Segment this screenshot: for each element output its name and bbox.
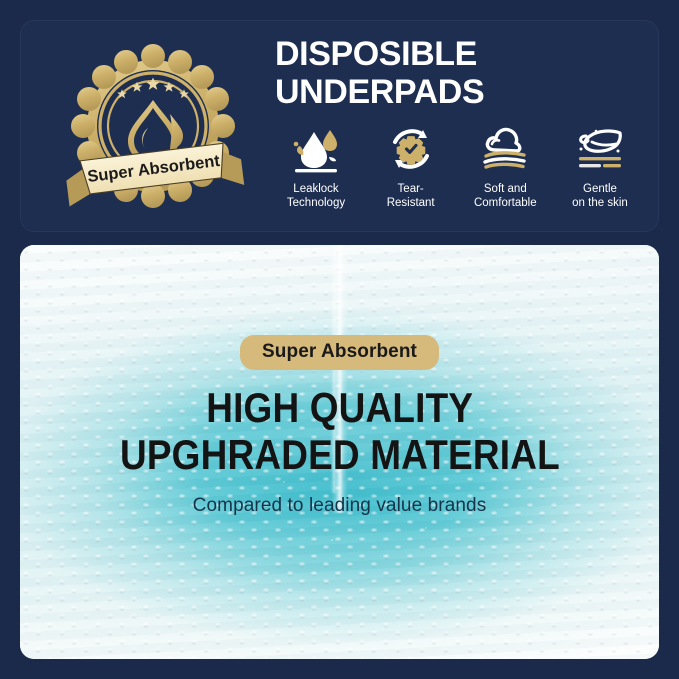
product-header-panel: Super Absorbent DISPOSIBLE UNDERPADS Lea… (20, 20, 659, 232)
gear-check-arrows-icon (383, 124, 439, 174)
feature-gentle-on-the-skin-label: Gentle on the skin (572, 182, 628, 211)
product-title-line2: UNDERPADS (275, 74, 640, 112)
product-title-line1: DISPOSIBLE (275, 36, 640, 74)
photo-subtext: Compared to leading value brands (193, 495, 487, 517)
super-absorbent-seal: Super Absorbent (58, 38, 248, 214)
feature-tear-resistant: Tear- Resistant (367, 124, 455, 211)
photo-text-overlay: Super Absorbent HIGH QUALITY UPGHRADED M… (20, 335, 659, 517)
feature-soft-and-comfortable-label: Soft and Comfortable (474, 182, 537, 211)
photo-headline-line1: HIGH QUALITY (206, 386, 473, 431)
feature-leaklock-technology-label: Leaklock Technology (287, 182, 345, 211)
feature-list: Leaklock Technology Tear- Resistant (272, 124, 644, 211)
cloud-layers-icon (477, 124, 533, 174)
product-title: DISPOSIBLE UNDERPADS (275, 36, 640, 111)
droplet-leaklock-icon (288, 124, 344, 174)
feature-leaklock-technology: Leaklock Technology (272, 124, 360, 211)
photo-headline-line2: UPGHRADED MATERIAL (120, 433, 560, 478)
feature-soft-and-comfortable: Soft and Comfortable (461, 124, 549, 211)
feather-lines-icon (572, 124, 628, 174)
product-photo-panel: Super Absorbent HIGH QUALITY UPGHRADED M… (20, 245, 659, 659)
seal-graphic: Super Absorbent (58, 38, 248, 214)
feature-tear-resistant-label: Tear- Resistant (387, 182, 435, 211)
super-absorbent-badge: Super Absorbent (240, 335, 439, 370)
feature-gentle-on-the-skin: Gentle on the skin (556, 124, 644, 211)
